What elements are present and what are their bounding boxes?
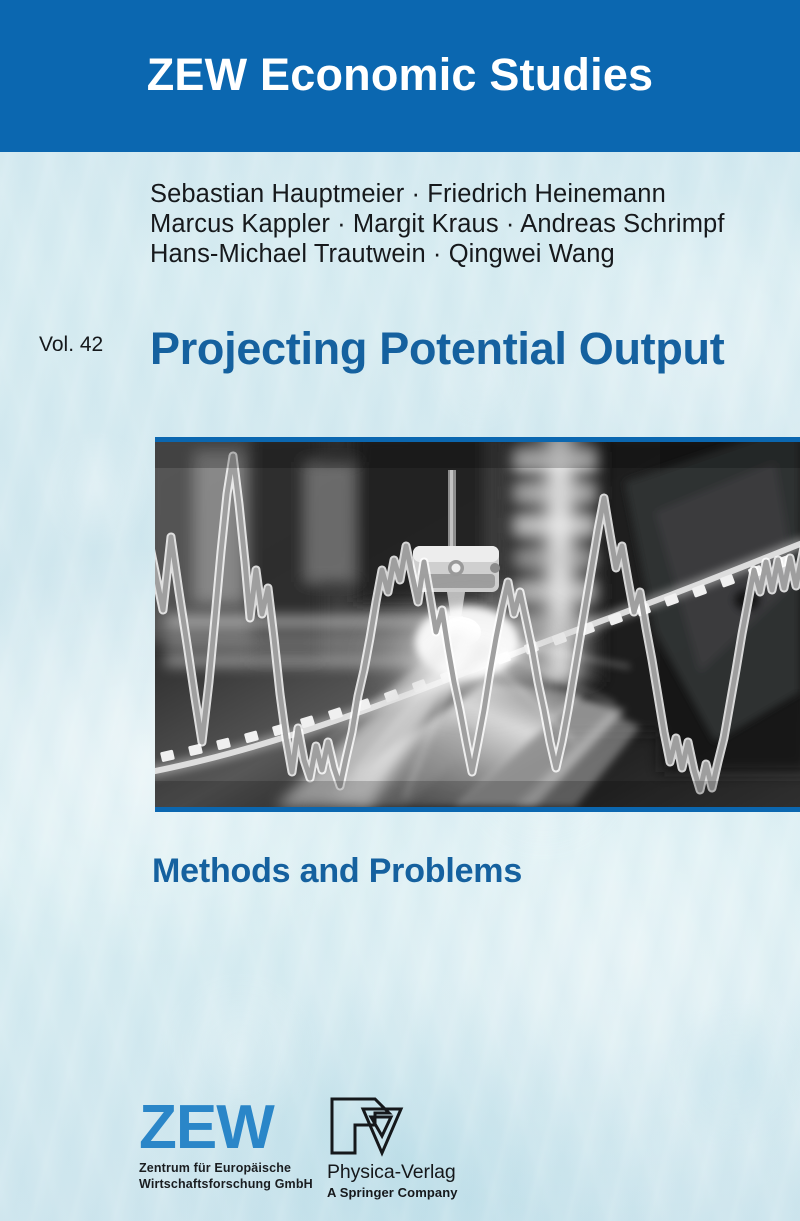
cover-photograph-inner bbox=[155, 442, 800, 807]
zew-logo: ZEW Zentrum für Europäische Wirtschaftsf… bbox=[139, 1100, 319, 1192]
machinery-photo-illustration bbox=[155, 442, 800, 807]
zew-wordmark: ZEW bbox=[139, 1100, 319, 1156]
author-list: Sebastian Hauptmeier · Friedrich Heinema… bbox=[150, 179, 770, 269]
book-subtitle: Methods and Problems bbox=[152, 851, 522, 891]
zew-institution-line1: Zentrum für Europäische bbox=[139, 1161, 319, 1177]
zew-institution-line2: Wirtschaftsforschung GmbH bbox=[139, 1177, 319, 1193]
physica-verlag-logo: Physica-Verlag A Springer Company bbox=[327, 1095, 517, 1201]
physica-publisher-name: Physica-Verlag bbox=[327, 1161, 517, 1184]
author-line: Marcus Kappler · Margit Kraus · Andreas … bbox=[150, 209, 770, 239]
author-line: Sebastian Hauptmeier · Friedrich Heinema… bbox=[150, 179, 770, 209]
physica-tagline: A Springer Company bbox=[327, 1185, 517, 1201]
series-banner: ZEW Economic Studies bbox=[0, 0, 800, 152]
physica-pv-monogram-icon bbox=[327, 1095, 405, 1157]
book-title: Projecting Potential Output bbox=[150, 322, 724, 376]
author-line: Hans-Michael Trautwein · Qingwei Wang bbox=[150, 239, 770, 269]
zew-institution-name: Zentrum für Europäische Wirtschaftsforsc… bbox=[139, 1161, 319, 1192]
series-title: ZEW Economic Studies bbox=[147, 52, 654, 101]
volume-number: Vol. 42 bbox=[39, 334, 103, 355]
book-cover: ZEW Economic Studies Sebastian Hauptmeie… bbox=[0, 0, 800, 1221]
cover-photograph bbox=[155, 437, 800, 812]
